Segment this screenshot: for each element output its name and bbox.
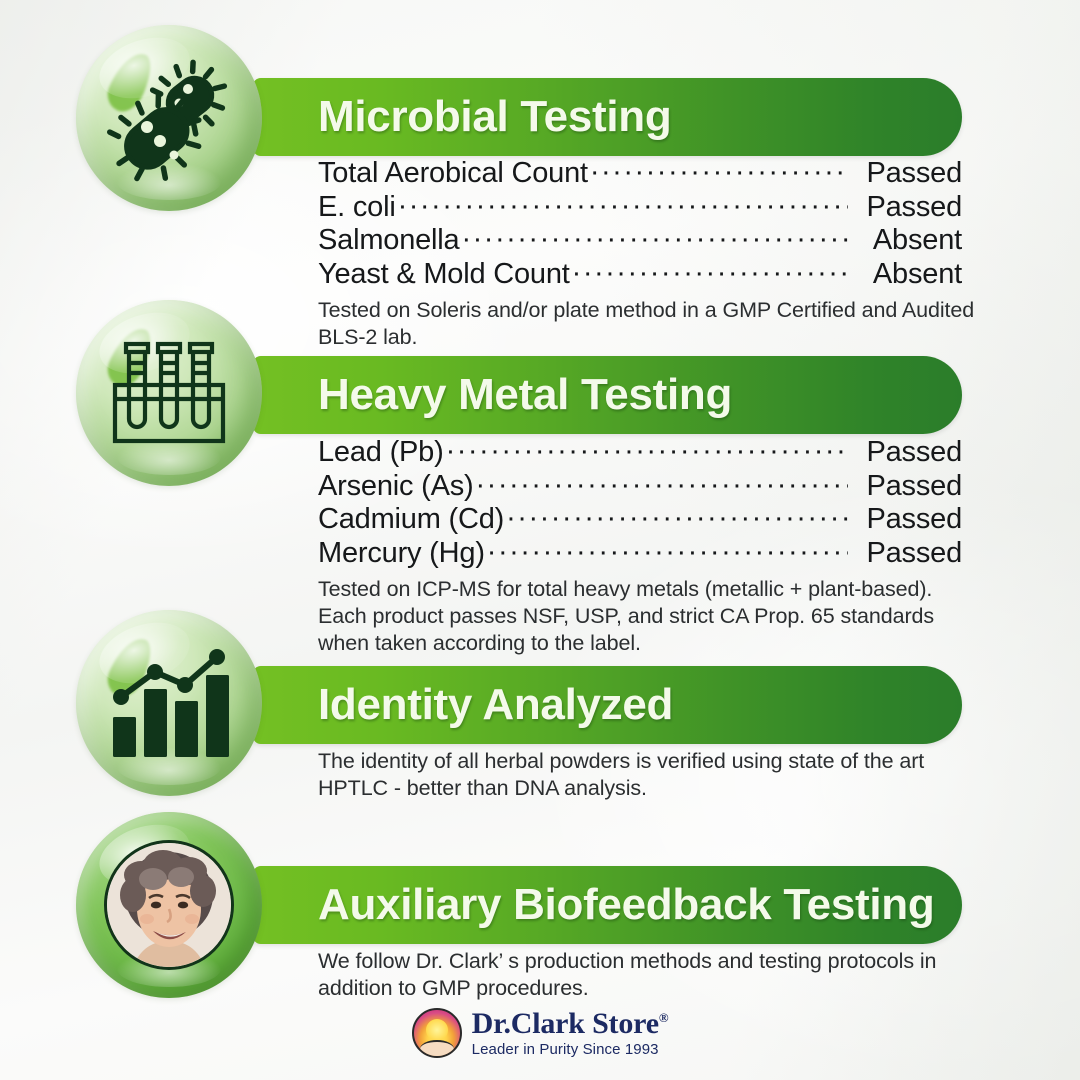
bar-chart-glyph xyxy=(107,645,231,761)
section-title: Microbial Testing xyxy=(253,92,671,142)
infographic-page: Microbial Testing Total Aerobical Count … xyxy=(0,0,1080,1080)
avatar xyxy=(104,840,234,970)
row-label: Arsenic (As) xyxy=(318,470,474,503)
row-label: Yeast & Mold Count xyxy=(318,258,570,291)
leader-dots: ········································… xyxy=(487,536,848,569)
row-value: Passed xyxy=(850,436,962,469)
section-note: The identity of all herbal powders is ve… xyxy=(318,748,978,802)
table-row: E. coli ································… xyxy=(318,191,962,225)
table-row: Salmonella ·····························… xyxy=(318,224,962,258)
row-label: Salmonella xyxy=(318,224,459,257)
table-row: Total Aerobical Count ··················… xyxy=(318,157,962,191)
section-title: Heavy Metal Testing xyxy=(253,370,732,420)
section-header-heavy-metal: Heavy Metal Testing xyxy=(253,356,962,434)
row-value: Passed xyxy=(850,470,962,503)
row-value: Passed xyxy=(850,157,962,190)
row-label: E. coli xyxy=(318,191,396,224)
brand-name-text: Dr.Clark Store xyxy=(472,1007,659,1040)
leader-dots: ········································… xyxy=(398,190,848,223)
result-list-microbial: Total Aerobical Count ··················… xyxy=(318,157,962,291)
section-note: We follow Dr. Clark’ s production method… xyxy=(318,948,978,1002)
section-header-identity: Identity Analyzed xyxy=(253,666,962,744)
leader-dots: ········································… xyxy=(446,435,848,468)
table-row: Mercury (Hg) ···························… xyxy=(318,537,962,571)
row-value: Passed xyxy=(850,191,962,224)
footer-branding: Dr.Clark Store® Leader in Purity Since 1… xyxy=(0,1008,1080,1058)
leader-dots: ········································… xyxy=(572,257,848,290)
bacteria-icon xyxy=(76,25,262,211)
table-row: Lead (Pb) ······························… xyxy=(318,436,962,470)
result-list-heavy-metal: Lead (Pb) ······························… xyxy=(318,436,962,570)
section-title: Identity Analyzed xyxy=(253,680,673,730)
bacteria-glyph xyxy=(104,53,234,183)
row-value: Absent xyxy=(850,258,962,291)
section-note: Tested on Soleris and/or plate method in… xyxy=(318,297,978,351)
table-row: Yeast & Mold Count ·····················… xyxy=(318,258,962,292)
table-row: Arsenic (As) ···························… xyxy=(318,470,962,504)
bar-chart-trend-icon xyxy=(76,610,262,796)
registered-mark: ® xyxy=(659,1010,669,1025)
test-tube-rack-glyph xyxy=(109,333,229,453)
section-title: Auxiliary Biofeedback Testing xyxy=(253,880,934,930)
row-label: Mercury (Hg) xyxy=(318,537,485,570)
row-label: Cadmium (Cd) xyxy=(318,503,504,536)
leader-dots: ········································… xyxy=(506,502,848,535)
row-value: Passed xyxy=(850,503,962,536)
test-tubes-icon xyxy=(76,300,262,486)
section-header-microbial: Microbial Testing xyxy=(253,78,962,156)
row-label: Total Aerobical Count xyxy=(318,157,588,190)
dr-clark-store-logo-icon xyxy=(412,1008,462,1058)
logo-hands-shape xyxy=(420,1040,454,1058)
table-row: Cadmium (Cd) ···························… xyxy=(318,503,962,537)
row-value: Passed xyxy=(850,537,962,570)
row-value: Absent xyxy=(850,224,962,257)
brand-name: Dr.Clark Store® xyxy=(472,1009,669,1039)
founder-portrait-icon xyxy=(76,812,262,998)
leader-dots: ········································… xyxy=(590,156,848,189)
portrait-photo-glyph xyxy=(107,843,231,967)
row-label: Lead (Pb) xyxy=(318,436,444,469)
section-header-biofeedback: Auxiliary Biofeedback Testing xyxy=(253,866,962,944)
footer-text-block: Dr.Clark Store® Leader in Purity Since 1… xyxy=(472,1009,669,1057)
section-note: Tested on ICP-MS for total heavy metals … xyxy=(318,576,978,657)
logo-sun-shape xyxy=(426,1019,448,1041)
leader-dots: ········································… xyxy=(476,469,848,502)
leader-dots: ········································… xyxy=(461,223,848,256)
brand-tagline: Leader in Purity Since 1993 xyxy=(472,1042,669,1057)
